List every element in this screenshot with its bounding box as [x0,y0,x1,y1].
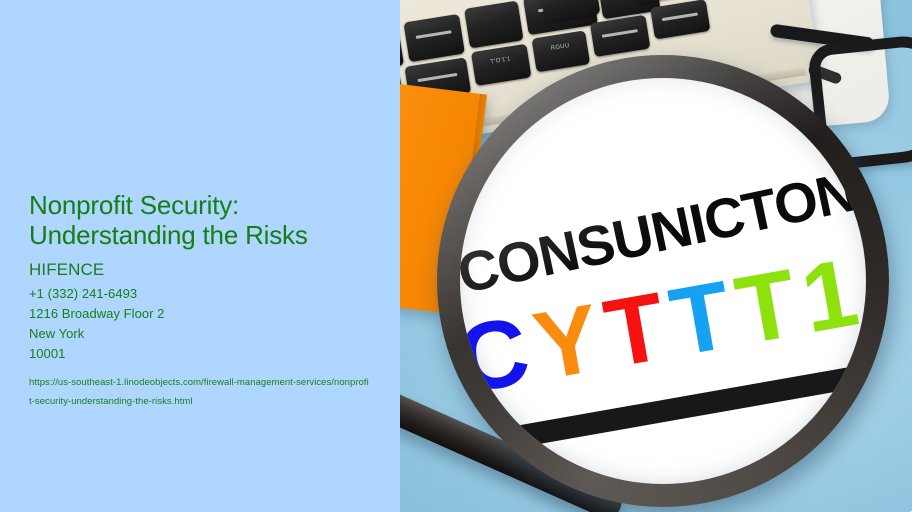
phone-number: +1 (332) 241-6493 [29,284,389,304]
magnifier-glass: CONSUNICTON CYTTT1 [460,78,866,484]
source-url: https://us-southeast-1.linodeobjects.com… [29,373,369,411]
magnifier: CONSUNICTON CYTTT1 [437,55,889,507]
keyboard-key [650,0,710,39]
address-zip: 10001 [29,344,389,364]
text-block: Nonprofit Security: Understanding the Ri… [29,190,389,411]
address-city: New York [29,324,389,344]
keyboard-key [590,15,651,57]
magnified-letter: T [598,278,674,383]
left-text-panel: Nonprofit Security: Understanding the Ri… [0,0,400,512]
company-name: HIFENCE [29,259,389,280]
page-title: Nonprofit Security: Understanding the Ri… [29,190,389,250]
magnified-letter: Y [527,290,609,396]
address-line-1: 1216 Broadway Floor 2 [29,304,389,324]
photo-panel: T'O'1'1 RGUU עברית CONSUNICTON [400,0,912,512]
slide-root: Nonprofit Security: Understanding the Ri… [0,0,912,512]
magnified-letter: T [730,255,806,360]
magnified-letter: T [664,267,740,372]
magnified-letter: 1 [795,244,866,348]
magnified-letter: C [460,302,538,409]
keyboard-key [464,1,524,49]
keyboard-key [400,28,404,74]
